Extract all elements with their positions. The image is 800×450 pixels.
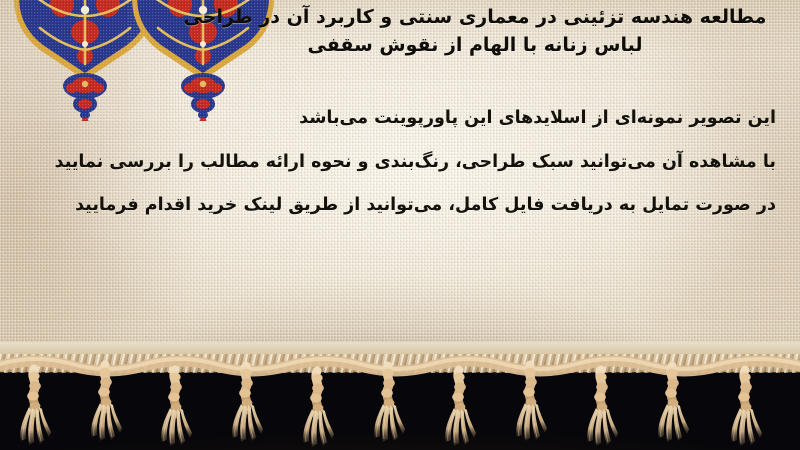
body-line-1: این تصویر نمونه‌ای از اسلایدهای این پاور… xyxy=(16,110,776,128)
text-layer: مطالعه هندسه تزئینی در معماری سنتی و کار… xyxy=(0,0,800,378)
carpet-fringe xyxy=(0,342,800,450)
title-line-1: مطالعه هندسه تزئینی در معماری سنتی و کار… xyxy=(175,4,775,31)
page-title: مطالعه هندسه تزئینی در معماری سنتی و کار… xyxy=(175,4,775,59)
body-text-block: این تصویر نمونه‌ای از اسلایدهای این پاور… xyxy=(16,110,776,215)
title-line-2: لباس زنانه با الهام از نقوش سقفی xyxy=(175,32,775,59)
body-line-3: در صورت تمایل به دریافت فایل کامل، می‌تو… xyxy=(16,197,776,215)
body-line-2: با مشاهده آن می‌توانید سبک طراحی، رنگ‌بن… xyxy=(16,154,776,172)
fringe-tassels xyxy=(0,342,800,450)
slide-canvas: مطالعه هندسه تزئینی در معماری سنتی و کار… xyxy=(0,0,800,450)
